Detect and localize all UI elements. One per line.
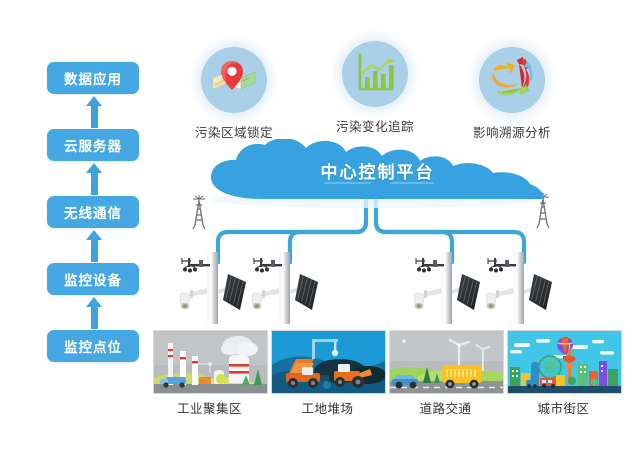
arrow-shaft (91, 171, 98, 195)
flow-box-label: 监控点位 (64, 336, 122, 356)
feature-circle (201, 47, 267, 113)
monitoring-pole-graphic (474, 252, 570, 324)
flow-arrow-up-3 (47, 228, 139, 263)
scene-road-traffic[interactable] (389, 330, 504, 394)
cloud-title: 中心控制平台 (205, 158, 550, 183)
central-control-cloud[interactable]: 中心控制平台 (205, 139, 550, 201)
scene-label-city-district: 城市街区 (507, 398, 620, 417)
scene-city-district[interactable] (507, 330, 622, 394)
scene-construction-site[interactable] (271, 330, 386, 394)
flow-column: 数据应用 云服务器 无线通信 监控设备 监控点位 (47, 62, 139, 362)
arrow-shaft (91, 104, 98, 128)
arrow-shaft (91, 238, 98, 262)
feature-pollution-change-tracking[interactable]: 污染变化追踪 (315, 41, 435, 135)
trend-chart-icon (342, 41, 408, 107)
arrow-shaft (91, 305, 98, 329)
feature-pollution-area-lock[interactable]: 污染区域锁定 (174, 47, 294, 141)
flow-box-data-application[interactable]: 数据应用 (47, 62, 139, 94)
scene-label-road-traffic: 道路交通 (389, 398, 502, 417)
flow-box-label: 监控设备 (64, 269, 122, 289)
scene-label-construction-site: 工地堆场 (271, 398, 384, 417)
flow-arrow-up-1 (47, 94, 139, 129)
flow-arrow-up-2 (47, 161, 139, 196)
map-pin-icon (201, 47, 267, 113)
flow-box-monitoring-point[interactable]: 监控点位 (47, 330, 139, 362)
flow-box-label: 数据应用 (64, 68, 122, 88)
feature-circle (342, 41, 408, 107)
city-district-photo (508, 331, 621, 393)
road-traffic-photo (390, 331, 503, 393)
flow-box-label: 无线通信 (64, 202, 122, 222)
construction-site-photo (272, 331, 385, 393)
flow-box-label: 云服务器 (64, 135, 122, 155)
industrial-zone-photo (154, 331, 267, 393)
flow-box-cloud-server[interactable]: 云服务器 (47, 129, 139, 161)
diagram-canvas: 数据应用 云服务器 无线通信 监控设备 监控点位 (0, 0, 640, 458)
feature-label: 污染变化追踪 (315, 116, 435, 135)
monitoring-pole-graphic (240, 252, 336, 324)
arrows-trace-icon (479, 47, 545, 113)
scene-industrial-zone[interactable] (153, 330, 268, 394)
antenna-tower-left (193, 195, 205, 229)
flow-box-wireless-communication[interactable]: 无线通信 (47, 196, 139, 228)
feature-impact-source-analysis[interactable]: 影响溯源分析 (452, 47, 572, 141)
flow-box-monitoring-device[interactable]: 监控设备 (47, 263, 139, 295)
flow-arrow-up-4 (47, 295, 139, 330)
scene-label-industrial-zone: 工业聚集区 (153, 398, 266, 417)
feature-circle (479, 47, 545, 113)
monitoring-pole-2[interactable] (240, 252, 336, 324)
monitoring-pole-4[interactable] (474, 252, 570, 324)
